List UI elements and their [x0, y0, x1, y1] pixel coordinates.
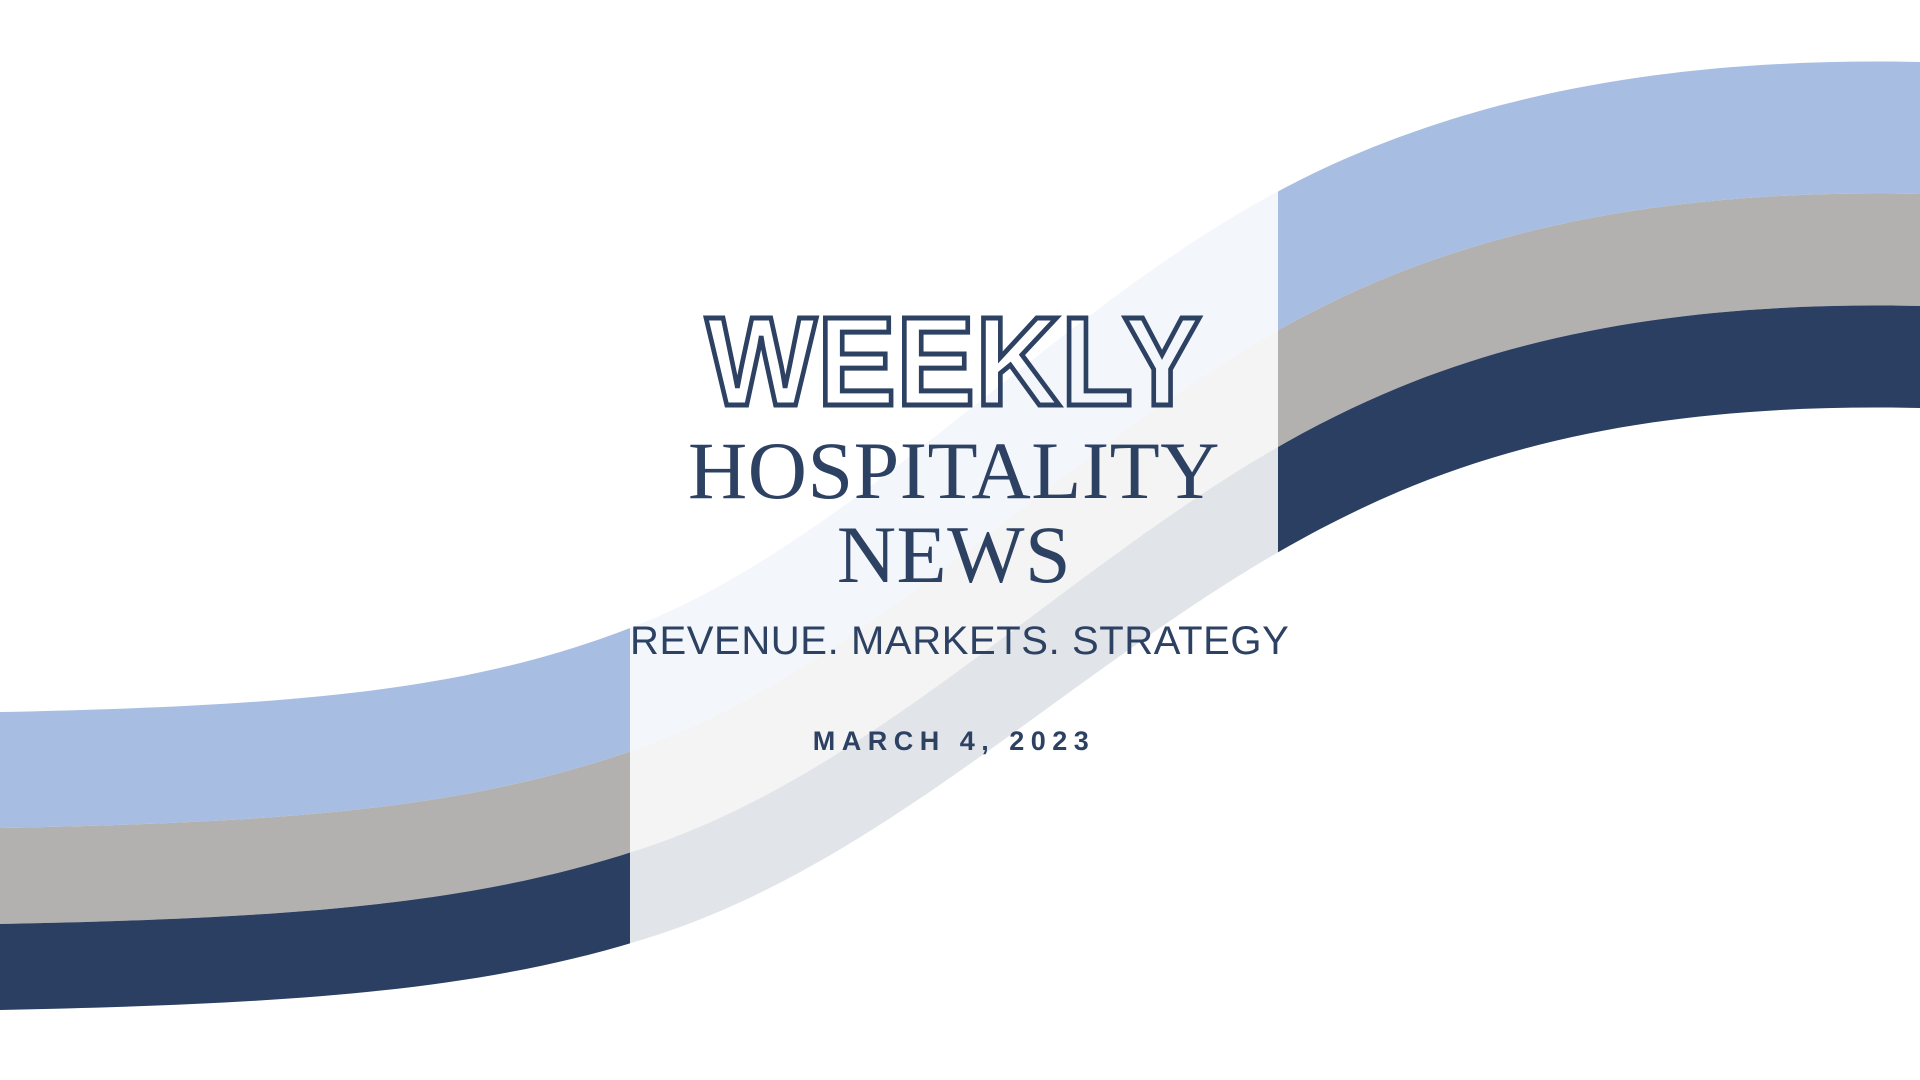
s-curve-ribbon	[0, 0, 1920, 1080]
newsletter-cover: WEEKLY HOSPITALITY NEWS REVENUE. MARKETS…	[0, 0, 1920, 1080]
translucent-title-panel	[630, 0, 1278, 1080]
